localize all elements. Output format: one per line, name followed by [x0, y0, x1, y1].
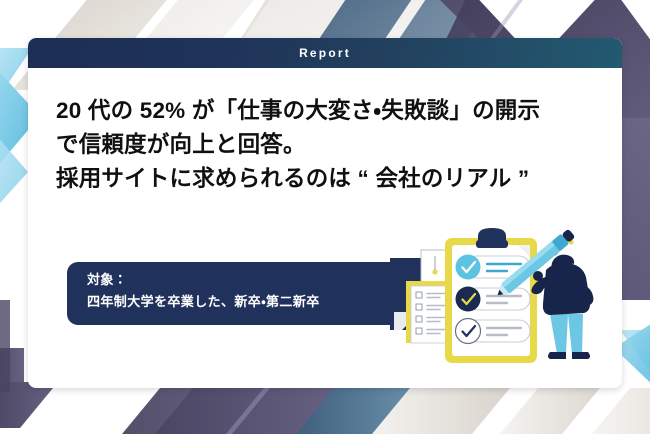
report-card: Report 20 代の 52% が「仕事の大変さ・失敗談」の開示 で信頼度が向…: [28, 38, 622, 388]
target-audience-box: 対象： 四年制大学を卒業した、新卒・第二新卒: [67, 262, 431, 325]
report-banner-label: Report: [299, 46, 351, 60]
clipboard-checklist-with-person-illustration: [390, 226, 605, 381]
target-audience-text: 対象： 四年制大学を卒業した、新卒・第二新卒: [87, 269, 431, 314]
report-header-banner: Report: [28, 38, 622, 68]
page-title: 20 代の 52% が「仕事の大変さ・失敗談」の開示 で信頼度が向上と回答。 採…: [56, 94, 601, 195]
slide-canvas: Report 20 代の 52% が「仕事の大変さ・失敗談」の開示 で信頼度が向…: [0, 0, 650, 434]
